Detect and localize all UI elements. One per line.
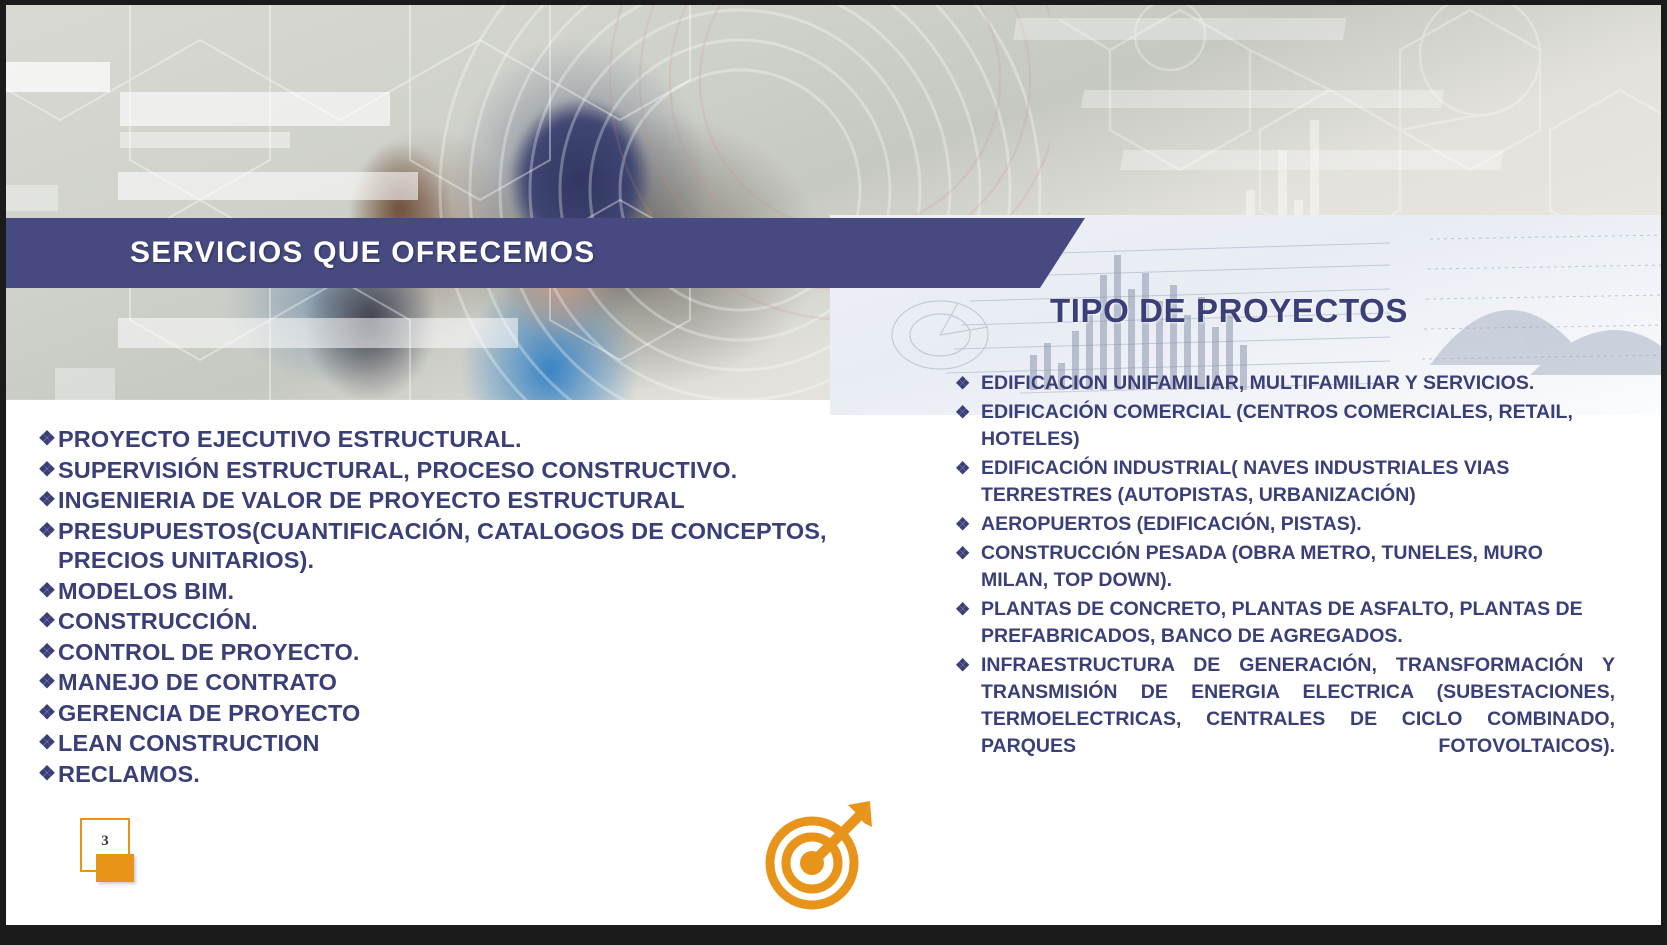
list-item-label: EDIFICACIÓN INDUSTRIAL( NAVES INDUSTRIAL… <box>981 455 1615 509</box>
list-item-label: SUPERVISIÓN ESTRUCTURAL, PROCESO CONSTRU… <box>58 456 858 486</box>
list-item: ❖ GERENCIA DE PROYECTO <box>38 699 858 729</box>
slide-frame-bottom <box>0 925 1667 945</box>
presentation-slide: SERVICIOS QUE OFRECEMOS TIPO DE PROYECTO… <box>0 0 1667 945</box>
diamond-bullet-icon: ❖ <box>955 540 981 567</box>
list-item-label: CONTROL DE PROYECTO. <box>58 638 858 668</box>
list-item: ❖ AEROPUERTOS (EDIFICACIÓN, PISTAS). <box>955 511 1615 538</box>
orange-accent-square <box>96 854 134 882</box>
list-item-label: PLANTAS DE CONCRETO, PLANTAS DE ASFALTO,… <box>981 596 1615 650</box>
diamond-bullet-icon: ❖ <box>955 399 981 426</box>
project-types-list: ❖ EDIFICACION UNIFAMILIAR, MULTIFAMILIAR… <box>955 370 1615 789</box>
list-item: ❖ RECLAMOS. <box>38 760 858 790</box>
page-number-badge: 3 <box>80 818 132 874</box>
diamond-bullet-icon: ❖ <box>38 760 56 790</box>
list-item-label: MODELOS BIM. <box>58 577 858 607</box>
list-item: ❖ CONSTRUCCIÓN. <box>38 607 858 637</box>
diamond-bullet-icon: ❖ <box>955 596 981 623</box>
list-item: ❖ PLANTAS DE CONCRETO, PLANTAS DE ASFALT… <box>955 596 1615 650</box>
list-item-label: LEAN CONSTRUCTION <box>58 729 858 759</box>
slide-frame-left <box>0 0 6 945</box>
diamond-bullet-icon: ❖ <box>38 729 56 759</box>
slide-frame-right <box>1661 0 1667 945</box>
list-item-label: EDIFICACIÓN COMERCIAL (CENTROS COMERCIAL… <box>981 399 1615 453</box>
list-item: ❖ LEAN CONSTRUCTION <box>38 729 858 759</box>
list-item-label: CONSTRUCCIÓN PESADA (OBRA METRO, TUNELES… <box>981 540 1615 594</box>
list-item: ❖ SUPERVISIÓN ESTRUCTURAL, PROCESO CONST… <box>38 456 858 486</box>
list-item-label: PROYECTO EJECUTIVO ESTRUCTURAL. <box>58 425 858 455</box>
list-item: ❖ INGENIERIA DE VALOR DE PROYECTO ESTRUC… <box>38 486 858 516</box>
page-title: SERVICIOS QUE OFRECEMOS <box>130 236 595 270</box>
list-item: ❖ EDIFICACIÓN COMERCIAL (CENTROS COMERCI… <box>955 399 1615 453</box>
diamond-bullet-icon: ❖ <box>38 699 56 729</box>
list-item-label: EDIFICACION UNIFAMILIAR, MULTIFAMILIAR Y… <box>981 370 1615 397</box>
list-item: ❖ PROYECTO EJECUTIVO ESTRUCTURAL. <box>38 425 858 455</box>
list-item: ❖ CONTROL DE PROYECTO. <box>38 638 858 668</box>
diamond-bullet-icon: ❖ <box>38 425 56 455</box>
list-item-label: CONSTRUCCIÓN. <box>58 607 858 637</box>
list-item: ❖ EDIFICACION UNIFAMILIAR, MULTIFAMILIAR… <box>955 370 1615 397</box>
list-item: ❖ MANEJO DE CONTRATO <box>38 668 858 698</box>
list-item-label: GERENCIA DE PROYECTO <box>58 699 858 729</box>
diamond-bullet-icon: ❖ <box>38 607 56 637</box>
list-item-label: PRESUPUESTOS(CUANTIFICACIÓN, CATALOGOS D… <box>58 517 858 576</box>
diamond-bullet-icon: ❖ <box>955 455 981 482</box>
list-item-label: AEROPUERTOS (EDIFICACIÓN, PISTAS). <box>981 511 1615 538</box>
diamond-bullet-icon: ❖ <box>955 652 981 679</box>
list-item: ❖ EDIFICACIÓN INDUSTRIAL( NAVES INDUSTRI… <box>955 455 1615 509</box>
slide-title-banner: SERVICIOS QUE OFRECEMOS <box>0 218 1085 288</box>
list-item: ❖ CONSTRUCCIÓN PESADA (OBRA METRO, TUNEL… <box>955 540 1615 594</box>
list-item-label: MANEJO DE CONTRATO <box>58 668 858 698</box>
diamond-bullet-icon: ❖ <box>38 638 56 668</box>
list-item-label: INFRAESTRUCTURA DE GENERACIÓN, TRANSFORM… <box>981 652 1615 787</box>
list-item: ❖ MODELOS BIM. <box>38 577 858 607</box>
target-bullseye-arrow-icon <box>760 795 880 910</box>
list-item-label: INGENIERIA DE VALOR DE PROYECTO ESTRUCTU… <box>58 486 858 516</box>
diamond-bullet-icon: ❖ <box>38 517 56 547</box>
page-number-label: 3 <box>101 833 109 850</box>
diamond-bullet-icon: ❖ <box>38 456 56 486</box>
diamond-bullet-icon: ❖ <box>38 577 56 607</box>
diamond-bullet-icon: ❖ <box>38 668 56 698</box>
list-item: ❖ PRESUPUESTOS(CUANTIFICACIÓN, CATALOGOS… <box>38 517 858 576</box>
diamond-bullet-icon: ❖ <box>955 511 981 538</box>
services-list: ❖ PROYECTO EJECUTIVO ESTRUCTURAL. ❖ SUPE… <box>38 425 858 790</box>
right-column-heading: TIPO DE PROYECTOS <box>1050 292 1408 330</box>
diamond-bullet-icon: ❖ <box>38 486 56 516</box>
slide-frame-top <box>0 0 1667 5</box>
list-item: ❖ INFRAESTRUCTURA DE GENERACIÓN, TRANSFO… <box>955 652 1615 787</box>
list-item-label: RECLAMOS. <box>58 760 858 790</box>
diamond-bullet-icon: ❖ <box>955 370 981 397</box>
